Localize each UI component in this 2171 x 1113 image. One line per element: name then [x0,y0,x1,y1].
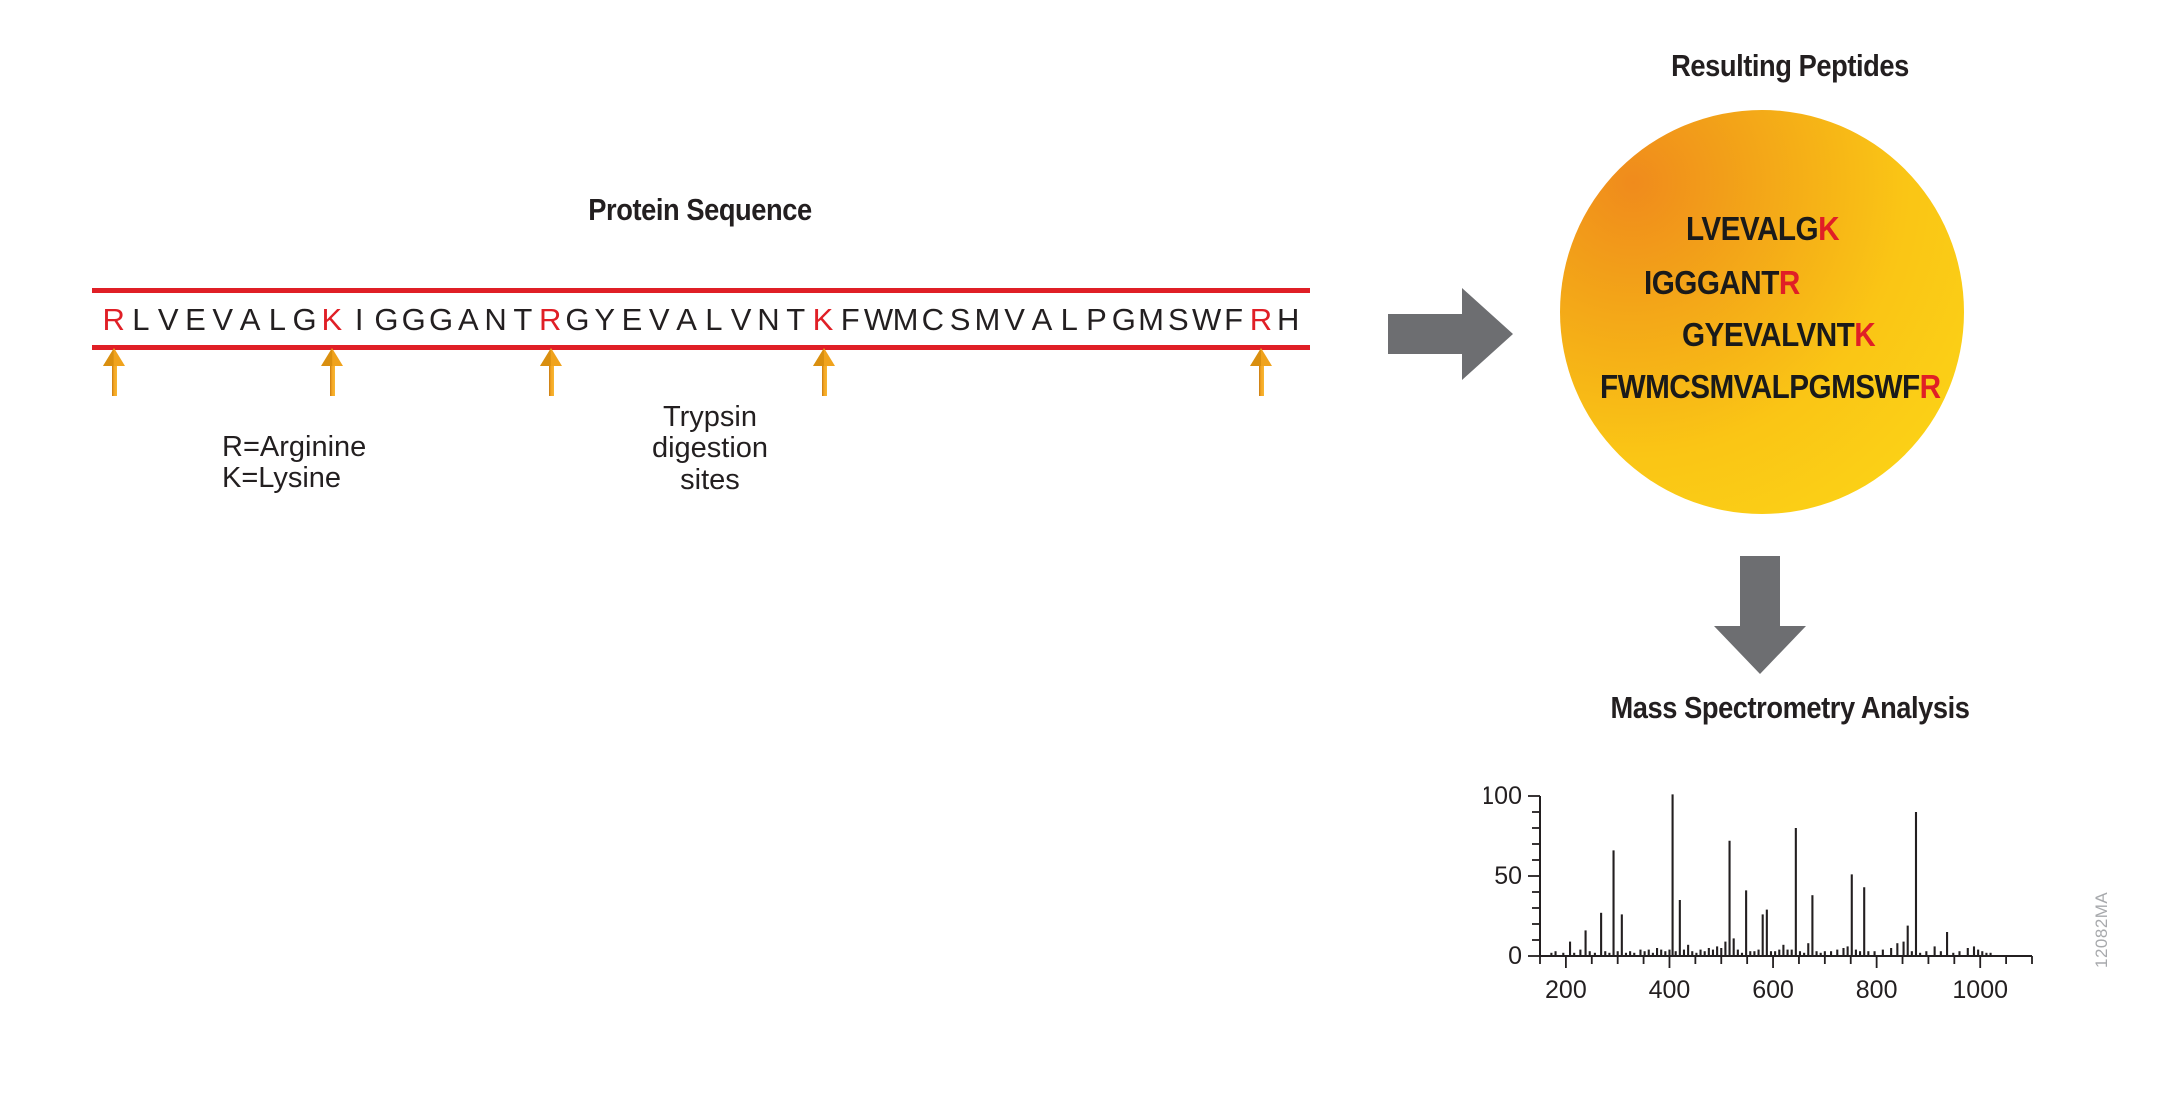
resulting-peptides-circle: LVEVALGKIGGGANTRGYEVALVNTKFWMCSMVALPGMSW… [1560,110,1964,514]
sequence-residue: V [646,304,673,335]
sequence-residue: V [727,304,754,335]
chart-axes: 2004006008001000050100 [1484,786,2032,1004]
svg-text:400: 400 [1649,976,1691,1004]
sequence-residue: W [864,304,892,335]
sequence-residue: S [946,304,973,335]
trypsin-label-line: digestion [600,433,820,464]
digestion-site-arrow-group [92,348,1310,396]
svg-text:200: 200 [1545,976,1587,1004]
sequence-residue: K [809,304,836,335]
peptide-terminal-residue: R [1920,368,1941,405]
peptide-label: LVEVALGK [1686,210,1839,248]
svg-text:50: 50 [1494,862,1522,890]
sequence-residue: V [155,304,182,335]
sequence-residue: A [236,304,263,335]
sequence-residue: G [427,304,454,335]
sequence-residue: K [318,304,345,335]
trypsin-label-line: sites [600,465,820,496]
legend-lysine: K=Lysine [222,463,366,494]
sequence-residue: F [837,304,864,335]
sequence-residue: G [400,304,427,335]
peptide-body: GYEVALVNT [1682,316,1854,353]
protein-sequence-strip: RLVEVALGKIGGGANTRGYEVALVNTKFWMCSMVALPGMS… [92,288,1310,350]
sequence-residue: A [673,304,700,335]
sequence-residue: R [100,304,127,335]
sequence-residue: V [209,304,236,335]
up-arrow-icon [103,348,125,396]
up-arrow-icon [321,348,343,396]
trypsin-digestion-sites-label: Trypsindigestionsites [600,402,820,496]
trypsin-label-line: Trypsin [600,402,820,433]
sequence-residue: N [755,304,782,335]
peptide-body: FWMCSMVALPGMSWF [1600,368,1920,405]
sequence-residue: Y [591,304,618,335]
sequence-residue: M [974,304,1001,335]
svg-text:1000: 1000 [1952,976,2008,1004]
sequence-residue: L [264,304,291,335]
arrow-right-icon [1388,288,1513,380]
sequence-residue: G [564,304,591,335]
sequence-residue-list: RLVEVALGKIGGGANTRGYEVALVNTKFWMCSMVALPGMS… [92,288,1310,350]
sequence-residue: H [1275,304,1302,335]
sequence-residue: N [482,304,509,335]
legend-arginine: R=Arginine [222,432,366,463]
sequence-residue: G [373,304,400,335]
sequence-residue: M [892,304,919,335]
peptide-terminal-residue: K [1854,316,1875,353]
up-arrow-icon [540,348,562,396]
svg-text:600: 600 [1752,976,1794,1004]
peptide-terminal-residue: R [1779,264,1800,301]
sequence-residue: M [1137,304,1164,335]
up-arrow-icon [813,348,835,396]
sequence-residue: I [346,304,373,335]
sequence-residue: T [509,304,536,335]
sequence-residue: A [455,304,482,335]
sequence-residue: P [1083,304,1110,335]
up-arrow-icon [1250,348,1272,396]
mass-spectrum-chart: 2004006008001000050100 [1484,786,2044,1016]
sequence-residue: A [1028,304,1055,335]
peptide-label: GYEVALVNTK [1682,316,1875,354]
sequence-residue: G [291,304,318,335]
sequence-residue: C [919,304,946,335]
sequence-residue: F [1220,304,1247,335]
arrow-down-icon [1714,556,1806,674]
svg-text:800: 800 [1856,976,1898,1004]
spectrum-peaks [1551,794,1990,956]
svg-text:0: 0 [1508,942,1522,970]
page-title-mass-spectrometry: Mass Spectrometry Analysis [1482,690,2098,726]
svg-text:100: 100 [1484,786,1522,810]
page-title-protein-sequence: Protein Sequence [84,192,1316,228]
sequence-residue: R [1247,304,1274,335]
watermark-code: 12082MA [2092,892,2112,968]
sequence-residue: S [1165,304,1192,335]
peptide-label: IGGGANTR [1644,264,1800,302]
sequence-residue: L [127,304,154,335]
sequence-residue: L [700,304,727,335]
sequence-residue: E [182,304,209,335]
sequence-residue: W [1192,304,1220,335]
peptide-label: FWMCSMVALPGMSWFR [1600,368,1941,406]
sequence-residue: G [1110,304,1137,335]
sequence-residue: T [782,304,809,335]
peptide-terminal-residue: K [1818,210,1839,247]
peptide-body: IGGGANT [1644,264,1779,301]
amino-acid-legend: R=Arginine K=Lysine [222,432,366,495]
sequence-residue: V [1001,304,1028,335]
sequence-residue: R [537,304,564,335]
peptide-body: LVEVALG [1686,210,1818,247]
sequence-residue: L [1056,304,1083,335]
sequence-residue: E [618,304,645,335]
page-title-resulting-peptides: Resulting Peptides [1517,48,2063,84]
